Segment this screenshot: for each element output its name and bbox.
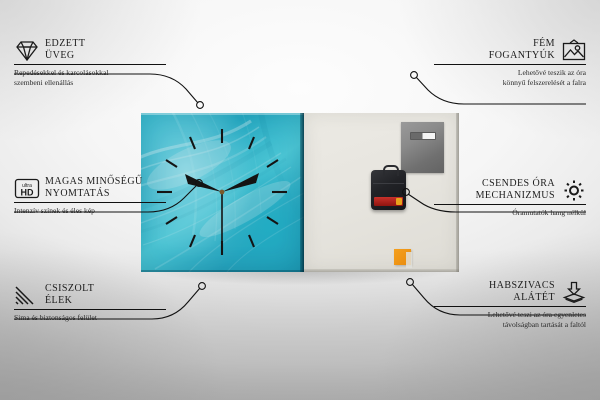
feature-header: ultra HD MAGAS MINŐSÉGŰ NYOMTATÁS bbox=[14, 176, 166, 199]
feature-header: FÉM FOGANTYÚK bbox=[434, 38, 586, 61]
feature-divider bbox=[14, 309, 166, 310]
feature-desc-line1: Lehetővé teszik az óra bbox=[434, 68, 586, 78]
feature-divider bbox=[434, 64, 586, 65]
feature-csiszolt-elek[interactable]: CSISZOLT ÉLEK Sima és biztonságos felüle… bbox=[14, 283, 166, 323]
foam-pad-icon bbox=[561, 281, 586, 303]
feature-divider bbox=[434, 204, 586, 205]
feature-desc-line1: Lehetővé teszi az óra egyenletes bbox=[434, 310, 586, 320]
feature-magas-minosegu-nyomtatas[interactable]: ultra HD MAGAS MINŐSÉGŰ NYOMTATÁS Intenz… bbox=[14, 176, 166, 216]
feature-desc-line1: Repedésekkel és karcolásokkal bbox=[14, 68, 166, 78]
diamond-icon bbox=[14, 39, 39, 61]
back-edge-bottom bbox=[304, 269, 459, 272]
picture-hanger-icon bbox=[561, 39, 586, 61]
feature-desc-line2: távolságban tartását a faltól bbox=[434, 320, 586, 330]
feature-title: EDZETT ÜVEG bbox=[45, 38, 85, 61]
clock-mechanism-part bbox=[371, 170, 406, 210]
feature-divider bbox=[14, 202, 166, 203]
polished-edge-icon bbox=[14, 284, 39, 306]
feature-title: HABSZIVACS ALÁTÉT bbox=[489, 280, 555, 303]
feature-header: HABSZIVACS ALÁTÉT bbox=[434, 280, 586, 303]
clock-hands bbox=[185, 173, 259, 253]
feature-title: CSENDES ÓRA MECHANIZMUS bbox=[476, 178, 555, 201]
gear-icon bbox=[561, 179, 586, 201]
feature-fem-fogantyuk[interactable]: FÉM FOGANTYÚK Lehetővé teszik az óra kön… bbox=[434, 38, 586, 87]
feature-header: CSENDES ÓRA MECHANIZMUS bbox=[434, 178, 586, 201]
feature-desc-line1: Óramutatók hang nélkül bbox=[434, 208, 586, 218]
mechanism-seam bbox=[373, 183, 404, 184]
feature-header: EDZETT ÜVEG bbox=[14, 38, 166, 61]
feature-title: FÉM FOGANTYÚK bbox=[489, 38, 555, 61]
metal-hanger-part bbox=[401, 122, 444, 173]
feature-divider bbox=[14, 64, 166, 65]
ultra-hd-icon: ultra HD bbox=[14, 177, 39, 199]
feature-title: CSISZOLT ÉLEK bbox=[45, 283, 94, 306]
feature-header: CSISZOLT ÉLEK bbox=[14, 283, 166, 306]
feature-desc-line2: szembeni ellenállás bbox=[14, 78, 166, 88]
hanger-slot bbox=[410, 132, 436, 140]
feature-divider bbox=[434, 306, 586, 307]
foam-pad-part bbox=[394, 249, 411, 265]
feature-title: MAGAS MINŐSÉGŰ NYOMTATÁS bbox=[45, 176, 143, 199]
feature-habszivacs-alatet[interactable]: HABSZIVACS ALÁTÉT Lehetővé teszi az óra … bbox=[434, 280, 586, 329]
mechanism-battery bbox=[374, 197, 403, 206]
mechanism-loop bbox=[383, 165, 399, 176]
feature-edzett-uveg[interactable]: EDZETT ÜVEG Repedésekkel és karcolásokka… bbox=[14, 38, 166, 87]
feature-desc-line1: Intenzív színek és éles kép bbox=[14, 206, 166, 216]
feature-desc-line1: Sima és biztonságos felület bbox=[14, 313, 166, 323]
svg-text:HD: HD bbox=[21, 187, 34, 197]
feature-csendes-ora-mechanizmus[interactable]: CSENDES ÓRA MECHANIZMUS Óramutatók hang … bbox=[434, 178, 586, 218]
feature-desc-line2: könnyű felszerelését a falra bbox=[434, 78, 586, 88]
infographic-canvas: EDZETT ÜVEG Repedésekkel és karcolásokka… bbox=[0, 0, 600, 400]
